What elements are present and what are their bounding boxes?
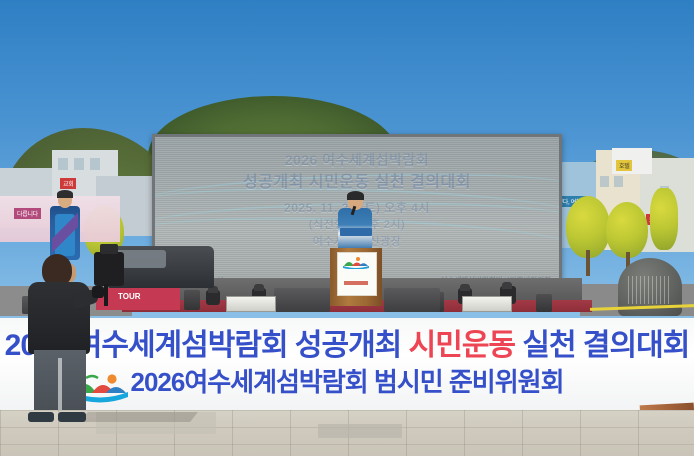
led-title-line2: 성공개최 시민운동 실천 결의대회: [155, 168, 559, 192]
banner-line-1: 2026 여수세계섬박람회 성공개최 시민운동 실천 결의대회: [0, 320, 694, 364]
banner-line1-highlight: 시민운동: [409, 329, 515, 362]
led-work-panel: [462, 296, 512, 312]
stage-monitor: [384, 288, 440, 312]
banner-text-left: 다릅니다: [14, 208, 41, 219]
podium-date-strip: [344, 281, 368, 285]
speaker-cabinet: [536, 294, 552, 312]
cast-shadow: [80, 412, 198, 422]
leg-separation: [58, 358, 62, 418]
official-sash: [52, 212, 78, 256]
stage-monitor: [274, 288, 330, 312]
tree: [606, 202, 648, 258]
cameraman-shoe: [28, 412, 54, 422]
monument-inscription: [628, 276, 672, 304]
main-banner: 2026 여수세계섬박람회 성공개최 시민운동 실천 결의대회 2026여수세계…: [0, 318, 694, 412]
cameraman-shoe: [58, 412, 86, 422]
window: [600, 176, 609, 187]
window: [90, 158, 100, 170]
ground-patch: [318, 424, 402, 438]
gimbal-handle: [104, 284, 108, 306]
photo-scene: 교회 고 싶다, 여행점 모텔 호텔 다릅니다 2026 여수세계섬박람회 성공…: [0, 0, 694, 456]
tour-banner-text: TOUR: [118, 292, 141, 301]
cameraman-hand: [92, 286, 104, 298]
expo-logo-icon: [343, 256, 369, 269]
moving-head-light: [206, 290, 220, 305]
speaker-cabinet: [184, 290, 200, 310]
hotel-sign: 호텔: [616, 160, 632, 171]
podium-nameplate: [340, 228, 372, 236]
speaker-hair: [347, 191, 364, 200]
window: [614, 176, 623, 187]
camera-rig: [94, 252, 124, 286]
tree: [566, 196, 610, 258]
tree: [650, 188, 678, 250]
camera-body: [100, 244, 118, 254]
banner-line1-part2: 실천 결의대회: [515, 329, 689, 362]
shop-sign-left: 교회: [60, 178, 76, 189]
led-title-line1: 2026 여수세계섬박람회: [155, 150, 559, 170]
led-work-panel: [226, 296, 276, 312]
official-hair: [57, 190, 73, 198]
window: [74, 158, 84, 170]
tree-trunk: [586, 250, 590, 276]
window: [58, 158, 68, 170]
